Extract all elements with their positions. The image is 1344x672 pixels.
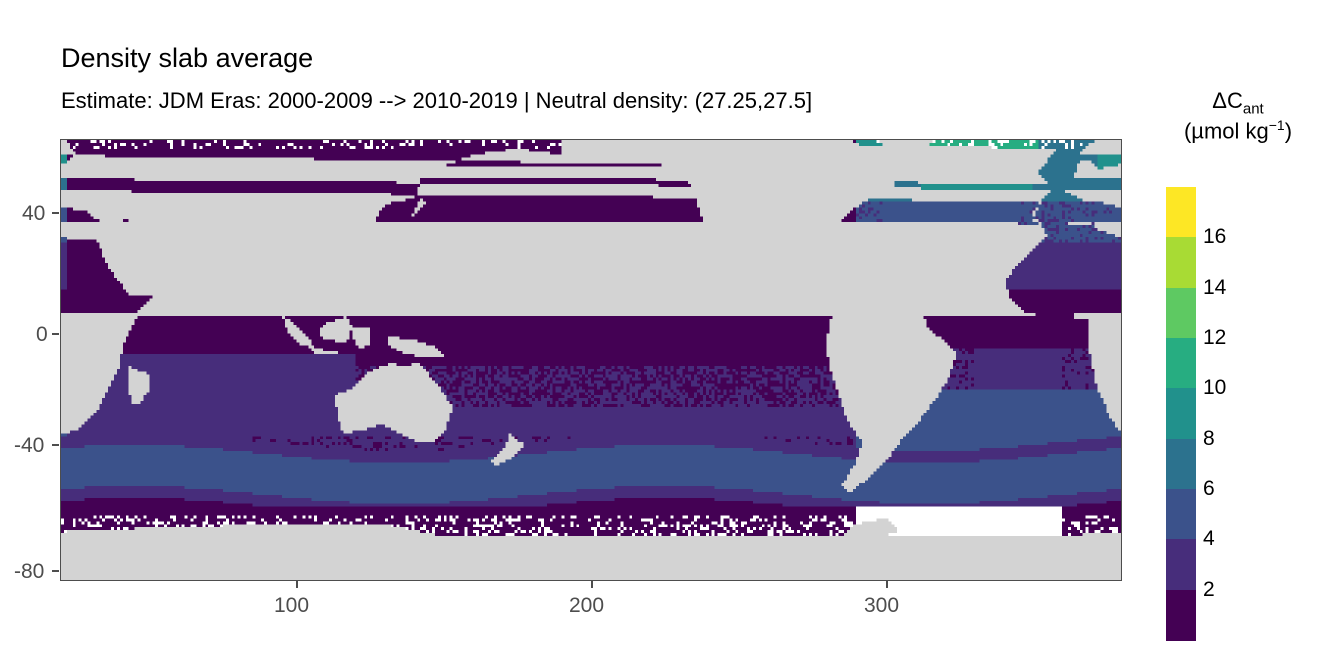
legend-units-exponent: −1 (1269, 117, 1285, 133)
colorbar-band-2-4 (1166, 539, 1196, 590)
colorbar-tick-label-2: 2 (1203, 578, 1215, 602)
map-raster (61, 140, 1121, 580)
y-axis-label-0: 0 (36, 323, 48, 347)
colorbar-band-4-6 (1166, 489, 1196, 540)
colorbar-tick-label-4: 4 (1203, 527, 1215, 551)
x-axis-label-200: 200 (569, 594, 604, 618)
legend-units-prefix: (µmol kg (1184, 118, 1269, 143)
colorbar-band-12-14 (1166, 288, 1196, 339)
colorbar-band-10-12 (1166, 338, 1196, 389)
legend-title-subscript-ant: ant (1243, 100, 1264, 117)
figure-root: Density slab average Estimate: JDM Eras:… (0, 0, 1344, 672)
map-panel[interactable] (60, 139, 1122, 581)
y-axis-label--80: -80 (14, 560, 44, 584)
colorbar-tick-label-8: 8 (1203, 427, 1215, 451)
y-axis-label--40: -40 (14, 434, 44, 458)
figure-title: Density slab average (61, 42, 313, 74)
colorbar-band-0-2 (1166, 590, 1196, 641)
colorbar-tick-label-12: 12 (1203, 326, 1226, 350)
legend-title-delta-cant: ΔCant (1158, 88, 1318, 117)
figure-subtitle: Estimate: JDM Eras: 2000-2009 --> 2010-2… (61, 88, 812, 114)
colorbar-band-6-8 (1166, 439, 1196, 490)
y-axis-tick--80 (52, 570, 59, 572)
colorbar-tick-label-14: 14 (1203, 276, 1226, 300)
legend-title-delta-c: ΔC (1212, 88, 1243, 113)
y-axis-label-40: 40 (22, 202, 45, 226)
y-axis-tick-0 (52, 333, 59, 335)
colorbar-band-8-10 (1166, 388, 1196, 439)
colorbar-tick-label-10: 10 (1203, 376, 1226, 400)
colorbar-tick-label-16: 16 (1203, 225, 1226, 249)
x-axis-tick-100 (296, 581, 298, 588)
y-axis-tick-40 (52, 212, 59, 214)
x-axis-tick-200 (591, 581, 593, 588)
x-axis-label-100: 100 (274, 594, 309, 618)
colorbar-band-14-16 (1166, 237, 1196, 288)
colorbar-tick-label-6: 6 (1203, 477, 1215, 501)
y-axis-tick--40 (52, 444, 59, 446)
legend-units-suffix: ) (1285, 118, 1292, 143)
colorbar-band-16-18 (1166, 187, 1196, 238)
x-axis-tick-300 (886, 581, 888, 588)
legend-title-units: (µmol kg−1) (1148, 117, 1328, 144)
colorbar[interactable] (1166, 187, 1196, 640)
x-axis-label-300: 300 (864, 594, 899, 618)
